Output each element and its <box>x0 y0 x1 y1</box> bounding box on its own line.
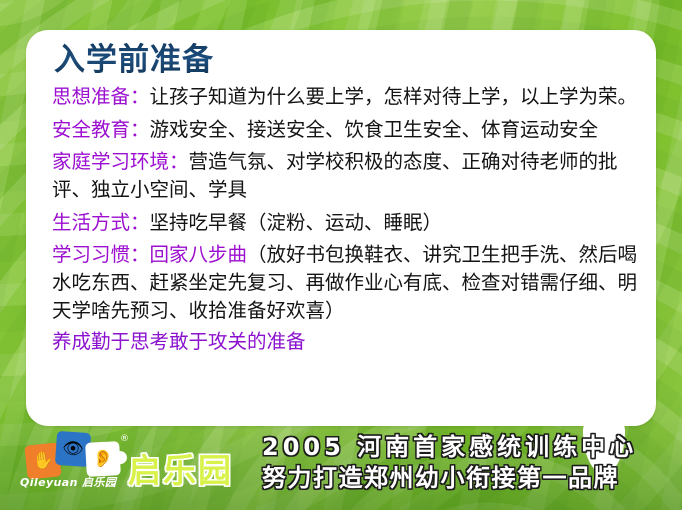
section-label: 学习习惯：回家八步曲 <box>52 243 247 266</box>
section-label: 安全教育： <box>52 118 150 141</box>
section-item: 思想准备：让孩子知道为什么要上学，怎样对待上学，以上学为荣。 <box>52 83 642 111</box>
closing-line: 养成勤于思考敢于攻关的准备 <box>52 328 642 356</box>
section-text: 坚持吃早餐（淀粉、运动、睡眠） <box>150 211 443 234</box>
page-title: 入学前准备 <box>54 42 642 80</box>
section-item: 学习习惯：回家八步曲（放好书包换鞋衣、讲究卫生把手洗、然后喝水吃东西、赶紧坐定先… <box>52 241 642 324</box>
section-item: 生活方式：坚持吃早餐（淀粉、运动、睡眠） <box>52 209 642 237</box>
brand-tagline: 2005 河南首家感统训练中心 努力打造郑州幼小衔接第一品牌 <box>262 432 637 493</box>
content-area: 入学前准备 思想准备：让孩子知道为什么要上学，怎样对待上学，以上学为荣。 安全教… <box>26 30 656 426</box>
tagline-line-1: 2005 河南首家感统训练中心 <box>262 432 637 463</box>
registered-trademark-icon: ® <box>120 434 129 444</box>
slide-root: 入学前准备 思想准备：让孩子知道为什么要上学，怎样对待上学，以上学为荣。 安全教… <box>0 0 682 510</box>
section-text: 游戏安全、接送安全、饮食卫生安全、体育运动安全 <box>150 118 599 141</box>
brand-wordmark: 启乐园 <box>128 444 233 492</box>
ear-icon: 👂 <box>85 441 121 477</box>
footer-bar: ✋ 👁 👂 ® Qileyuan 启乐园 启乐园 2005 河南首家感统训练中心… <box>0 424 682 510</box>
section-label: 家庭学习环境： <box>52 150 189 173</box>
sections-list: 思想准备：让孩子知道为什么要上学，怎样对待上学，以上学为荣。 安全教育：游戏安全… <box>52 83 642 356</box>
section-text: 让孩子知道为什么要上学，怎样对待上学，以上学为荣。 <box>150 85 638 108</box>
section-label: 生活方式： <box>52 211 150 234</box>
section-item: 安全教育：游戏安全、接送安全、饮食卫生安全、体育运动安全 <box>52 116 642 144</box>
ear-glyph: 👂 <box>85 441 121 477</box>
brand-logo-mark: ✋ 👁 👂 ® <box>24 430 132 476</box>
brand-latin-name: Qileyuan 启乐园 <box>20 474 116 490</box>
tagline-line-2: 努力打造郑州幼小衔接第一品牌 <box>262 463 637 494</box>
section-label: 思想准备： <box>52 85 150 108</box>
section-item: 家庭学习环境：营造气氛、对学校积极的态度、正确对待老师的批评、独立小空间、学具 <box>52 148 642 203</box>
